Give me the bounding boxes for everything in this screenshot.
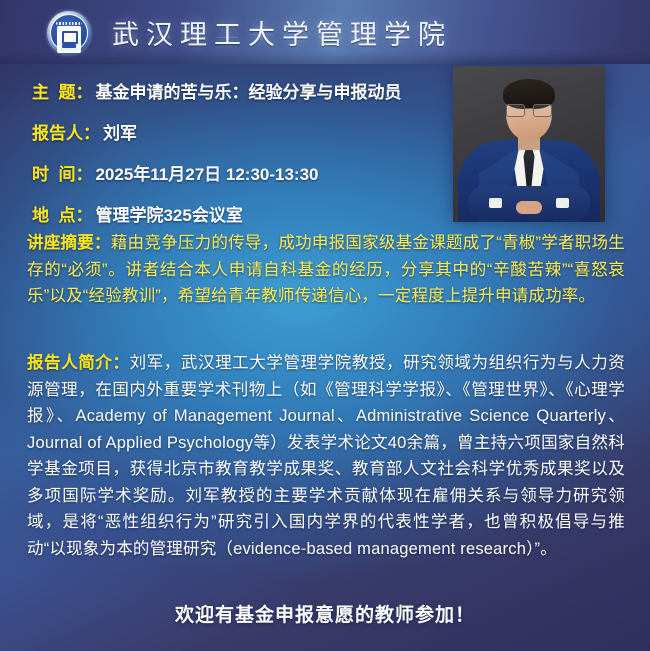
info-label-time: 时 间： [32, 160, 92, 185]
info-row-topic: 主 题： 基金申请的苦与乐：经验分享与申报动员 [32, 78, 401, 103]
portrait-hand [516, 201, 542, 214]
info-row-time: 时 间： 2025年11月27日 12:30-13:30 [32, 160, 401, 185]
seminar-info-block: 主 题： 基金申请的苦与乐：经验分享与申报动员 报告人： 刘军 时 间： 202… [32, 78, 401, 242]
info-label-topic: 主 题： [32, 78, 92, 103]
university-seal-logo [47, 11, 91, 55]
info-value-time: 2025年11月27日 12:30-13:30 [95, 160, 318, 185]
bio-paragraph: 报告人简介：刘军，武汉理工大学管理学院教授，研究领域为组织行为与人力资源管理，在… [27, 350, 625, 562]
info-value-speaker: 刘军 [103, 119, 137, 144]
closing-invitation: 欢迎有基金申报意愿的教师参加！ [0, 600, 650, 627]
abstract-paragraph: 讲座摘要：藉由竞争压力的传导，成功申报国家级基金课题成了“青椒”学者职场生存的“… [27, 230, 625, 310]
info-label-speaker: 报告人： [32, 119, 100, 144]
abstract-body: 藉由竞争压力的传导，成功申报国家级基金课题成了“青椒”学者职场生存的“必须”。讲… [27, 234, 625, 305]
info-row-speaker: 报告人： 刘军 [32, 119, 401, 144]
poster-header: 武汉理工大学管理学院 武汉理工大学管理学院 [0, 0, 650, 64]
seal-glyph [57, 26, 81, 53]
seminar-poster: 武汉理工大学管理学院 武汉理工大学管理学院 主 题： 基金申请的苦与乐：经验分享… [0, 0, 650, 651]
bio-label: 报告人简介： [27, 354, 130, 372]
info-label-location: 地 点： [32, 201, 92, 226]
speaker-portrait [453, 66, 605, 222]
info-value-location: 管理学院325会议室 [95, 201, 242, 226]
info-row-location: 地 点： 管理学院325会议室 [32, 201, 401, 226]
portrait-cuff-left [489, 198, 502, 208]
portrait-glasses [506, 104, 552, 115]
abstract-label: 讲座摘要： [27, 234, 111, 252]
seal-ring [50, 14, 88, 52]
bio-body: 刘军，武汉理工大学管理学院教授，研究领域为组织行为与人力资源管理，在国内外重要学… [27, 354, 625, 558]
portrait-cuff-right [556, 198, 569, 208]
info-value-topic: 基金申请的苦与乐：经验分享与申报动员 [95, 78, 401, 103]
university-name: 武汉理工大学管理学院 [112, 13, 452, 52]
